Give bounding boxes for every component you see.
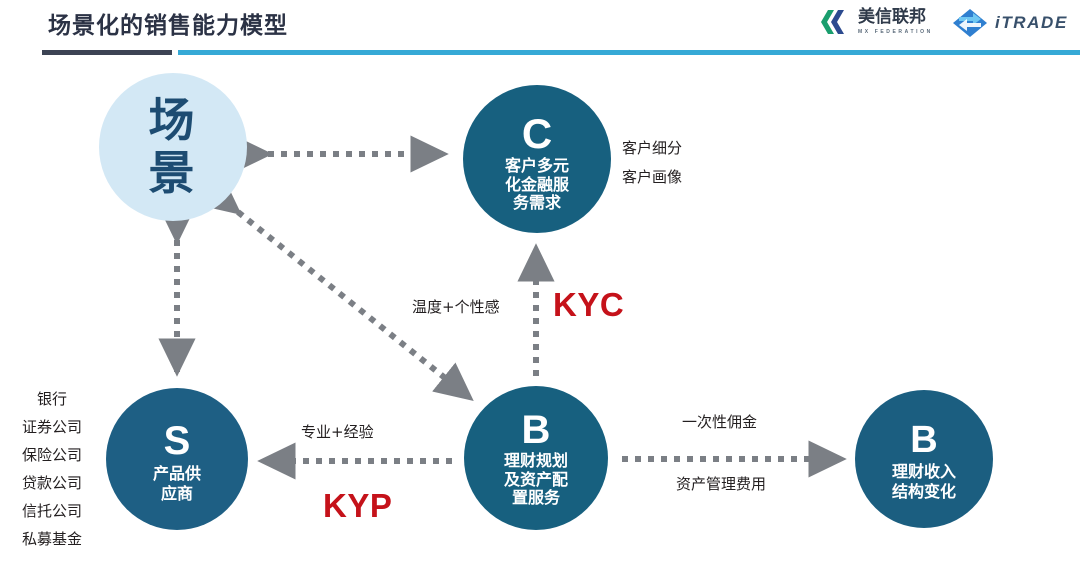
node-customer-tag: C	[522, 113, 552, 155]
node-customer[interactable]: C 客户多元 化金融服 务需求	[463, 85, 611, 233]
node-supplier[interactable]: S 产品供 应商	[106, 388, 248, 530]
node-scene-line2: 景	[149, 147, 198, 200]
node-supplier-line2: 应商	[161, 484, 193, 503]
node-advisory-line2: 及资产配	[504, 471, 568, 490]
label-customer-segmentation: 客户细分	[622, 137, 682, 158]
label-professional-experience: 专业+经验	[301, 421, 374, 442]
node-scene[interactable]: 场 景	[99, 73, 247, 221]
label-warmth-personalization: 温度+个性感	[412, 296, 500, 317]
label-kyp: KYP	[323, 487, 392, 525]
list-item: 证券公司	[22, 420, 82, 435]
list-item: 私募基金	[22, 532, 82, 547]
node-supplier-line1: 产品供	[153, 464, 201, 483]
node-supplier-tag: S	[164, 421, 191, 461]
node-advisory-tag: B	[522, 410, 551, 450]
node-customer-line2: 化金融服	[505, 176, 569, 195]
label-asset-management-fee: 资产管理费用	[676, 473, 766, 494]
node-scene-line1: 场	[149, 94, 198, 147]
list-item: 银行	[37, 392, 67, 407]
provider-list: 银行 证券公司 保险公司 贷款公司 信托公司 私募基金	[4, 392, 100, 560]
node-revenue-tag: B	[910, 421, 937, 459]
node-advisory[interactable]: B 理财规划 及资产配 置服务	[464, 386, 608, 530]
node-revenue[interactable]: B 理财收入 结构变化	[855, 390, 993, 528]
list-item: 保险公司	[22, 448, 82, 463]
node-revenue-line2: 结构变化	[892, 482, 956, 501]
node-customer-line3: 务需求	[513, 194, 561, 213]
list-item: 信托公司	[22, 504, 82, 519]
label-customer-portrait: 客户画像	[622, 166, 682, 187]
label-kyc: KYC	[553, 286, 624, 324]
node-advisory-line3: 置服务	[512, 489, 560, 508]
node-revenue-line1: 理财收入	[892, 462, 956, 481]
label-one-time-commission: 一次性佣金	[682, 411, 757, 432]
slide-canvas: 场景化的销售能力模型 美信联邦 MX FEDERATION iTRADE	[0, 0, 1080, 568]
node-customer-line1: 客户多元	[505, 157, 569, 176]
list-item: 贷款公司	[22, 476, 82, 491]
node-advisory-line1: 理财规划	[504, 452, 568, 471]
